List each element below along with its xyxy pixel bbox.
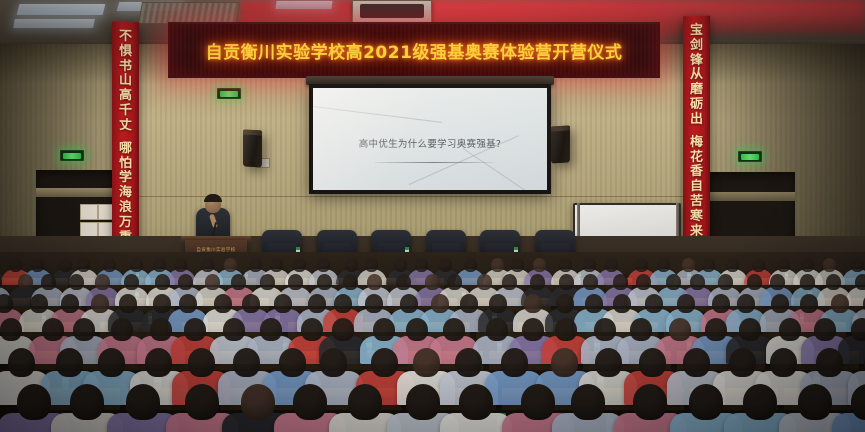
student-head: [179, 294, 197, 313]
student-head: [130, 258, 143, 272]
student-head: [486, 318, 508, 341]
student-head: [293, 258, 306, 272]
student-head: [489, 294, 507, 313]
student-head: [556, 294, 574, 313]
student-head: [343, 274, 358, 290]
student-head: [18, 274, 33, 290]
student-head: [530, 274, 545, 290]
projector-lens: [360, 4, 424, 18]
student-head: [415, 258, 428, 272]
screen-sheen: [313, 88, 547, 190]
student-head: [801, 258, 814, 272]
student-head: [594, 318, 616, 341]
student-head: [737, 294, 755, 313]
banner-character: 惧: [119, 45, 132, 60]
banner-character: 千: [119, 104, 132, 119]
student-head: [460, 294, 478, 313]
student-head: [726, 258, 739, 272]
student-head: [502, 274, 517, 290]
student-head: [274, 294, 292, 313]
wall-poster: [80, 222, 98, 237]
banner-character: 海: [119, 186, 132, 201]
banner-character: 寒: [690, 210, 703, 225]
ceiling-panel-light: [13, 19, 95, 28]
exit-sign-icon: [738, 151, 762, 162]
student-head: [293, 384, 327, 420]
student-head: [585, 294, 603, 313]
student-head: [260, 318, 282, 341]
student-head: [332, 318, 354, 341]
banner-character: 剑: [690, 39, 703, 54]
student-head: [205, 274, 220, 290]
student-head: [231, 274, 246, 290]
student-head: [718, 274, 733, 290]
student-head: [365, 294, 383, 313]
student-head: [320, 348, 347, 377]
student-head: [777, 258, 790, 272]
student-head: [56, 348, 83, 377]
student-head: [431, 294, 449, 313]
student-head: [17, 384, 51, 420]
banner-character: 宝: [690, 24, 703, 39]
student-head: [73, 318, 95, 341]
student-head: [851, 258, 864, 272]
student-head: [682, 258, 695, 272]
student-head: [639, 348, 666, 377]
alcove-shelf: [36, 188, 114, 197]
student-head: [613, 274, 628, 290]
student-head: [178, 274, 193, 290]
student-head: [683, 348, 710, 377]
student-head: [288, 274, 303, 290]
banner-character: 苦: [690, 195, 703, 210]
student-head: [41, 274, 56, 290]
student-head: [241, 384, 275, 420]
student-head: [823, 258, 836, 272]
student-head: [771, 294, 789, 313]
banner-character: 砺: [690, 98, 703, 113]
student-head: [308, 294, 326, 313]
student-head: [595, 348, 622, 377]
student-head: [559, 258, 572, 272]
student-head: [555, 318, 577, 341]
student-head: [174, 258, 187, 272]
student-head: [657, 258, 670, 272]
student-head: [464, 258, 477, 272]
student-head: [439, 258, 452, 272]
led-banner: 自贡衡川实验学校高2021级强基奥赛体验营开营仪式: [168, 22, 660, 78]
student-head: [301, 318, 323, 341]
student-head: [571, 384, 605, 420]
student-head: [184, 318, 206, 341]
wall-speaker: [551, 126, 570, 164]
student-head: [394, 258, 407, 272]
student-head: [826, 274, 841, 290]
student-head: [524, 294, 542, 313]
student-head: [317, 258, 330, 272]
student-head: [814, 318, 836, 341]
student-head: [348, 384, 382, 420]
banner-character: 自: [690, 180, 703, 195]
student-head: [511, 258, 524, 272]
ceiling-vent: [138, 2, 240, 24]
student-head: [124, 274, 139, 290]
banner-character: 出: [690, 113, 703, 128]
student-head: [770, 274, 785, 290]
student-head: [153, 258, 166, 272]
banner-character: 不: [119, 30, 132, 45]
projection-screen: 高中优生为什么要学习奥赛强基?: [309, 84, 551, 194]
student-head: [98, 348, 125, 377]
student-head: [677, 294, 695, 313]
banner-character: 梅: [690, 136, 703, 151]
student-head: [150, 318, 172, 341]
student-head: [30, 294, 48, 313]
student-head: [635, 258, 648, 272]
wall-poster: [80, 204, 98, 220]
student-head: [214, 294, 232, 313]
student-head: [155, 274, 170, 290]
student-head: [119, 294, 137, 313]
student-head: [666, 274, 681, 290]
student-head: [712, 294, 730, 313]
student-head: [752, 258, 765, 272]
student-head: [396, 274, 411, 290]
student-head: [406, 384, 440, 420]
student-head: [0, 318, 22, 341]
student-head: [800, 274, 815, 290]
student-head: [800, 294, 818, 313]
student-head: [0, 294, 13, 313]
student-head: [477, 274, 492, 290]
student-head: [371, 348, 398, 377]
student-head: [59, 258, 72, 272]
projection-screen-surface: 高中优生为什么要学习奥赛强基?: [313, 88, 547, 190]
student-head: [690, 274, 705, 290]
student-head: [69, 274, 84, 290]
banner-character: 万: [119, 216, 132, 231]
student-head: [605, 258, 618, 272]
student-head: [851, 318, 865, 341]
student-head: [533, 258, 546, 272]
student-head: [367, 274, 382, 290]
student-head: [224, 258, 237, 272]
student-head: [501, 348, 528, 377]
student-head: [689, 384, 723, 420]
student-head: [669, 318, 691, 341]
alcove-shelf: [707, 192, 795, 201]
student-head: [185, 384, 219, 420]
student-head: [739, 318, 761, 341]
student-head: [798, 384, 832, 420]
banner-character: 丈: [119, 119, 132, 134]
student-head: [279, 348, 306, 377]
student-head: [317, 274, 332, 290]
student-head: [334, 294, 352, 313]
student-head: [413, 348, 440, 377]
student-head: [406, 318, 428, 341]
student-head: [223, 318, 245, 341]
student-head: [459, 384, 493, 420]
student-head: [400, 294, 418, 313]
student-head: [522, 318, 544, 341]
student-head: [630, 318, 652, 341]
student-head: [126, 384, 160, 420]
ceiling-panel-light: [275, 1, 332, 9]
student-head: [77, 258, 90, 272]
student-head: [242, 294, 260, 313]
student-head: [95, 274, 110, 290]
student-head: [103, 258, 116, 272]
student-head: [702, 258, 715, 272]
student-head: [153, 294, 171, 313]
wall-speaker: [243, 130, 262, 168]
student-head: [816, 348, 843, 377]
student-head: [491, 258, 504, 272]
student-head: [831, 294, 849, 313]
banner-character: 浪: [119, 201, 132, 216]
student-head: [233, 348, 260, 377]
student-head: [31, 258, 44, 272]
student-head: [583, 258, 596, 272]
student-head: [583, 274, 598, 290]
student-head: [613, 294, 631, 313]
ceiling-panel-light: [17, 4, 106, 15]
student-head: [111, 318, 133, 341]
student-head: [42, 318, 64, 341]
student-head: [705, 318, 727, 341]
student-head: [425, 274, 440, 290]
student-head: [521, 384, 555, 420]
student-head: [747, 274, 762, 290]
student-head: [559, 274, 574, 290]
student-head: [455, 348, 482, 377]
student-head: [779, 318, 801, 341]
exit-sign-icon: [217, 88, 241, 99]
student-head: [270, 258, 283, 272]
exit-sign-icon: [60, 150, 84, 161]
student-head: [61, 294, 79, 313]
student-head: [365, 258, 378, 272]
student-head: [443, 318, 465, 341]
student-head: [8, 348, 35, 377]
student-head: [551, 348, 578, 377]
led-banner-text: 自贡衡川实验学校高2021级强基奥赛体验营开营仪式: [168, 24, 660, 76]
student-head: [70, 384, 104, 420]
student-head: [770, 348, 797, 377]
student-head: [260, 274, 275, 290]
student-head: [145, 348, 172, 377]
student-head: [91, 294, 109, 313]
student-head: [9, 258, 22, 272]
student-head: [855, 274, 865, 290]
audience: [0, 252, 865, 432]
student-head: [373, 318, 395, 341]
student-head: [188, 348, 215, 377]
student-head: [729, 348, 756, 377]
student-head: [201, 258, 214, 272]
student-head: [249, 258, 262, 272]
presenter-hair: [204, 194, 222, 202]
auditorium-photo: 自贡衡川实验学校高2021级强基奥赛体验营开营仪式 不惧书山高千丈哪怕学海浪万重…: [0, 0, 865, 432]
student-head: [447, 274, 462, 290]
student-head: [345, 258, 358, 272]
student-head: [633, 384, 667, 420]
student-head: [645, 294, 663, 313]
student-head: [636, 274, 651, 290]
banner-character: 哪: [119, 142, 132, 157]
student-head: [743, 384, 777, 420]
